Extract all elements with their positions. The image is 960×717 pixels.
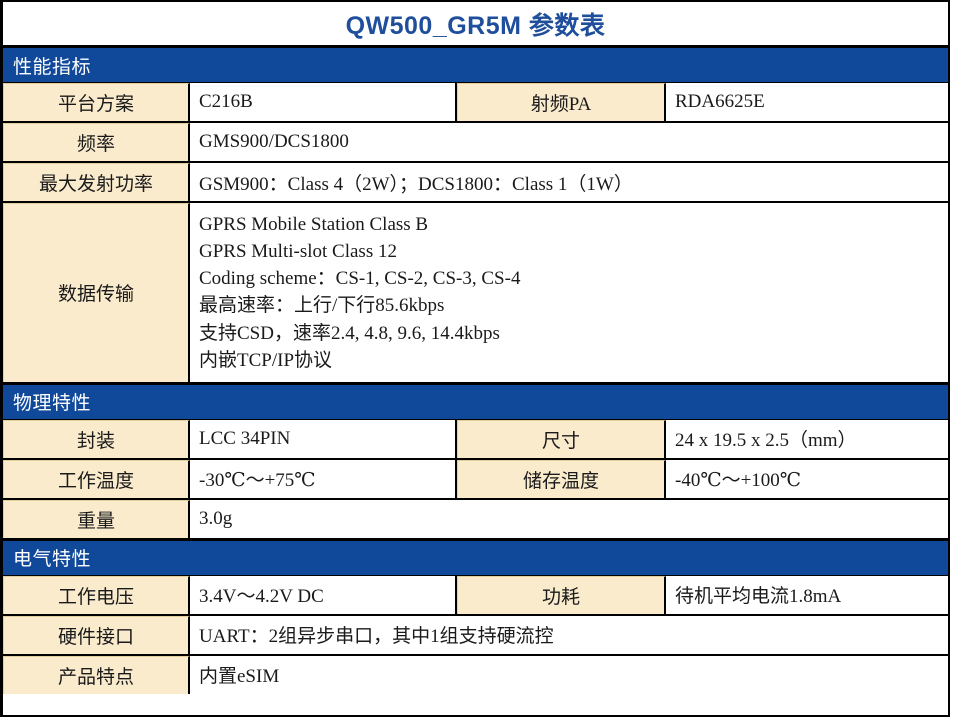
row-value-package: LCC 34PIN <box>190 420 457 458</box>
specification-table: QW500_GR5M 参数表 性能指标 平台方案 C216B 射频PA RDA6… <box>0 0 950 717</box>
section-header-label: 电气特性 <box>3 544 91 571</box>
row-value-frequency: GMS900/DCS1800 <box>190 123 948 161</box>
table-row: 硬件接口 UART：2组异步串口，其中1组支持硬流控 <box>3 616 948 656</box>
row-value-power-consumption: 待机平均电流1.8mA <box>666 576 948 614</box>
table-row: 工作温度 -30℃～+75℃ 储存温度 -40℃～+100℃ <box>3 460 948 500</box>
row-label-weight: 重量 <box>3 500 190 538</box>
spec-sheet-page: QW500_GR5M 参数表 性能指标 平台方案 C216B 射频PA RDA6… <box>0 0 960 717</box>
row-value-storage-temperature: -40℃～+100℃ <box>666 460 948 498</box>
table-row: 最大发射功率 GSM900：Class 4（2W）；DCS1800：Class … <box>3 163 948 203</box>
row-value-weight: 3.0g <box>190 500 948 538</box>
row-label-rf-pa: 射频PA <box>457 83 666 121</box>
section-header-electrical: 电气特性 <box>3 540 948 576</box>
row-value-max-tx-power: GSM900：Class 4（2W）；DCS1800：Class 1（1W） <box>190 163 948 201</box>
row-value-rf-pa: RDA6625E <box>666 83 948 121</box>
row-value-platform: C216B <box>190 83 457 121</box>
section-header-physical: 物理特性 <box>3 384 948 420</box>
row-label-package: 封装 <box>3 420 190 458</box>
section-header-label: 性能指标 <box>3 52 91 79</box>
row-label-product-features: 产品特点 <box>3 656 190 694</box>
row-value-data-transmission: GPRS Mobile Station Class B GPRS Multi-s… <box>190 203 520 382</box>
row-value-product-features: 内置eSIM <box>190 656 948 694</box>
row-label-storage-temperature: 储存温度 <box>457 460 666 498</box>
table-row: 封装 LCC 34PIN 尺寸 24 x 19.5 x 2.5（mm） <box>3 420 948 460</box>
row-label-power-consumption: 功耗 <box>457 576 666 614</box>
row-label-max-tx-power: 最大发射功率 <box>3 163 190 201</box>
table-row: 平台方案 C216B 射频PA RDA6625E <box>3 83 948 123</box>
row-value-dimensions: 24 x 19.5 x 2.5（mm） <box>666 420 948 458</box>
section-header-performance: 性能指标 <box>3 47 948 83</box>
section-header-label: 物理特性 <box>3 388 91 415</box>
table-row: 频率 GMS900/DCS1800 <box>3 123 948 163</box>
table-title-row: QW500_GR5M 参数表 <box>3 2 948 47</box>
row-value-hardware-interface: UART：2组异步串口，其中1组支持硬流控 <box>190 616 948 654</box>
row-value-data-transmission-cell: GPRS Mobile Station Class B GPRS Multi-s… <box>190 203 948 382</box>
row-label-operating-voltage: 工作电压 <box>3 576 190 614</box>
table-row: 工作电压 3.4V～4.2V DC 功耗 待机平均电流1.8mA <box>3 576 948 616</box>
row-label-hardware-interface: 硬件接口 <box>3 616 190 654</box>
row-label-platform: 平台方案 <box>3 83 190 121</box>
table-row: 数据传输 GPRS Mobile Station Class B GPRS Mu… <box>3 203 948 384</box>
row-label-frequency: 频率 <box>3 123 190 161</box>
row-value-operating-temperature: -30℃～+75℃ <box>190 460 457 498</box>
row-value-operating-voltage: 3.4V～4.2V DC <box>190 576 457 614</box>
page-title: QW500_GR5M 参数表 <box>346 6 606 42</box>
row-label-data-transmission: 数据传输 <box>3 203 190 382</box>
row-label-dimensions: 尺寸 <box>457 420 666 458</box>
table-row: 产品特点 内置eSIM <box>3 656 948 694</box>
row-label-operating-temperature: 工作温度 <box>3 460 190 498</box>
table-row: 重量 3.0g <box>3 500 948 540</box>
